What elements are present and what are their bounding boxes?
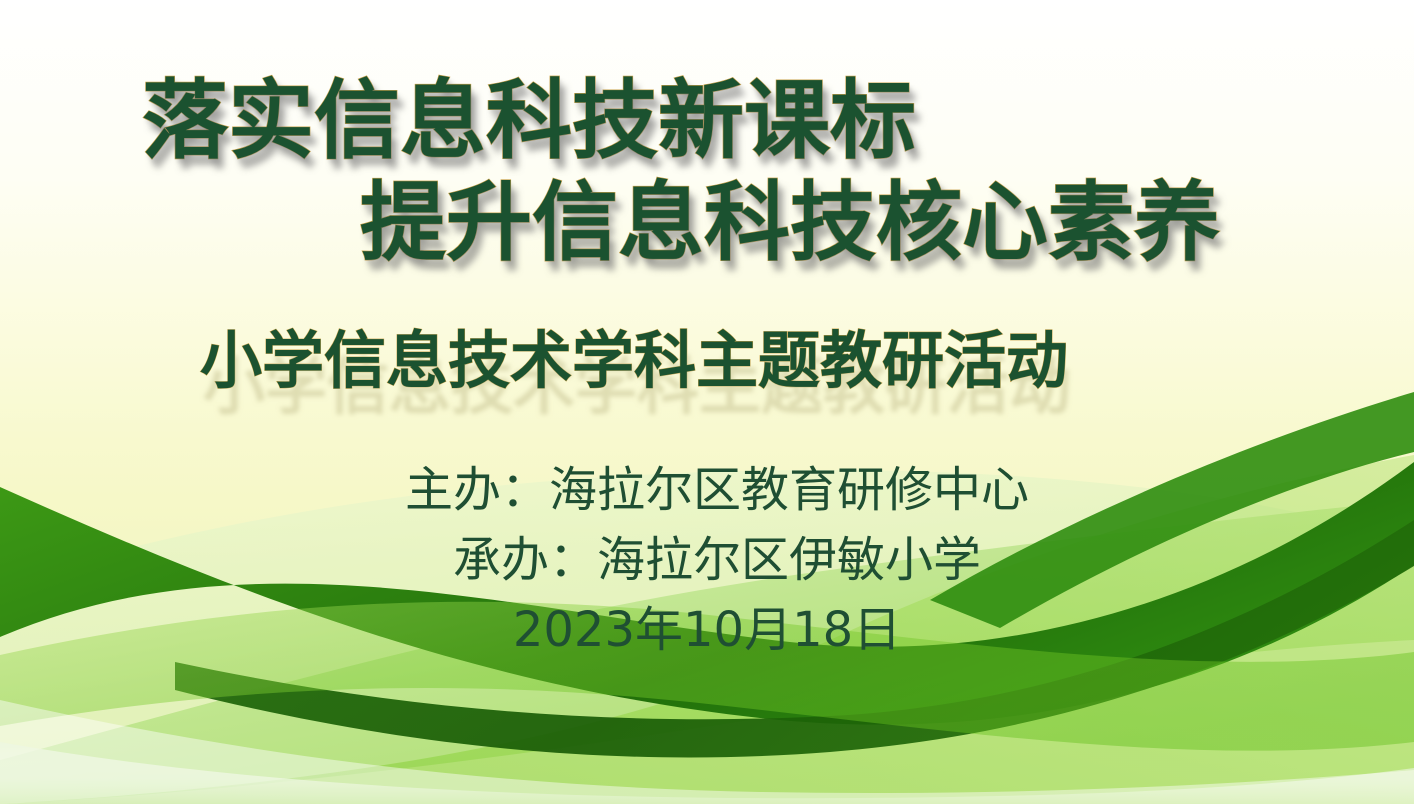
slide-text-layer: 落实信息科技新课标 提升信息科技核心素养 小学信息技术学科主题教研活动 主办：海… [0, 0, 1414, 804]
subtitle: 小学信息技术学科主题教研活动 [200, 330, 1068, 392]
date-line: 2023年10月18日 [0, 595, 1414, 665]
title-line-2: 提升信息科技核心素养 [360, 180, 1220, 266]
credits-block: 主办：海拉尔区教育研修中心 承办：海拉尔区伊敏小学 2023年10月18日 [0, 455, 1414, 665]
host-line: 承办：海拉尔区伊敏小学 [0, 525, 1414, 595]
organizer-line: 主办：海拉尔区教育研修中心 [0, 455, 1414, 525]
title-slide: 落实信息科技新课标 提升信息科技核心素养 小学信息技术学科主题教研活动 主办：海… [0, 0, 1414, 804]
title-line-1: 落实信息科技新课标 [142, 78, 916, 164]
